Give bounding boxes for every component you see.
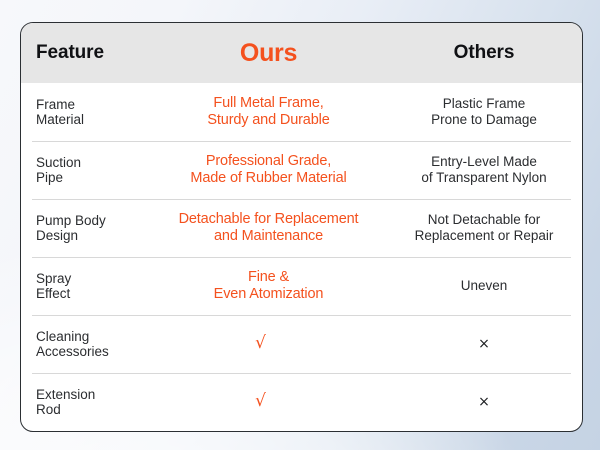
check-icon: √ xyxy=(255,335,266,352)
row-ours-value: Detachable for Replacement and Maintenan… xyxy=(151,211,386,246)
comparison-table-card: Feature Ours Others Frame Material Full … xyxy=(20,22,583,432)
table-row: Frame Material Full Metal Frame, Sturdy … xyxy=(21,83,582,141)
table-row: Suction Pipe Professional Grade, Made of… xyxy=(21,141,582,199)
header-cell-others: Others xyxy=(386,42,582,64)
row-others-value: Plastic Frame Prone to Damage xyxy=(386,96,582,128)
page-background: Feature Ours Others Frame Material Full … xyxy=(0,0,600,450)
row-others-value: × xyxy=(386,393,582,411)
row-others-value: Uneven xyxy=(386,278,582,294)
row-ours-value: √ xyxy=(151,393,386,411)
comparison-table: Feature Ours Others Frame Material Full … xyxy=(21,23,582,431)
row-ours-value: Fine & Even Atomization xyxy=(151,269,386,304)
table-row: Pump Body Design Detachable for Replacem… xyxy=(21,199,582,257)
row-feature-label: Spray Effect xyxy=(21,271,151,302)
row-feature-label: Suction Pipe xyxy=(21,155,151,186)
row-feature-label: Cleaning Accessories xyxy=(21,329,151,360)
row-others-value: × xyxy=(386,335,582,353)
check-icon: √ xyxy=(255,393,266,410)
table-row: Extension Rod √ × xyxy=(21,373,582,431)
cross-icon: × xyxy=(478,337,490,351)
header-cell-feature: Feature xyxy=(21,42,151,64)
row-ours-value: Full Metal Frame, Sturdy and Durable xyxy=(151,95,386,130)
row-feature-label: Pump Body Design xyxy=(21,213,151,244)
row-feature-label: Frame Material xyxy=(21,97,151,128)
cross-icon: × xyxy=(478,395,490,409)
table-row: Spray Effect Fine & Even Atomization Une… xyxy=(21,257,582,315)
row-ours-value: √ xyxy=(151,335,386,353)
row-others-value: Not Detachable for Replacement or Repair xyxy=(386,212,582,244)
row-ours-value: Professional Grade, Made of Rubber Mater… xyxy=(151,153,386,188)
table-header-row: Feature Ours Others xyxy=(21,23,582,83)
header-cell-ours: Ours xyxy=(151,41,386,66)
row-others-value: Entry-Level Made of Transparent Nylon xyxy=(386,154,582,186)
row-feature-label: Extension Rod xyxy=(21,387,151,418)
table-row: Cleaning Accessories √ × xyxy=(21,315,582,373)
